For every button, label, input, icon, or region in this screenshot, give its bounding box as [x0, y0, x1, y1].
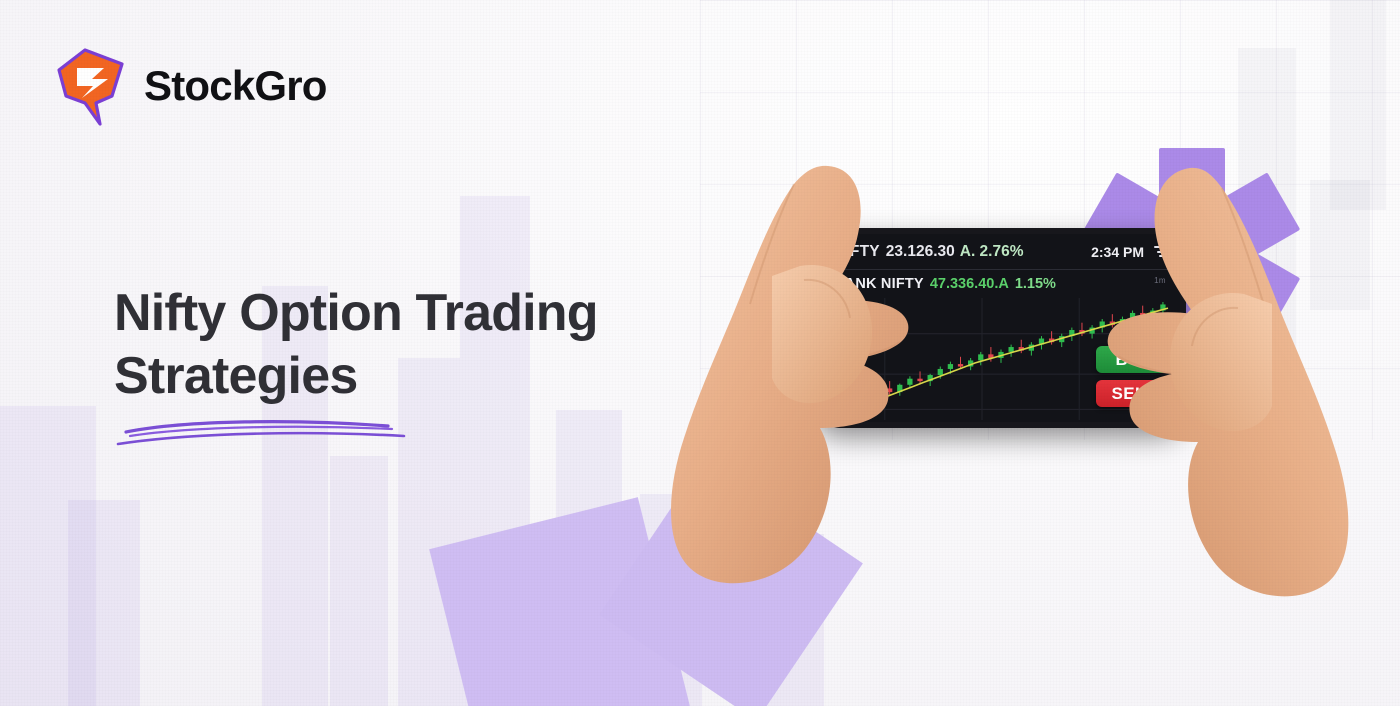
nifty-change: A. 2.76%	[960, 243, 1024, 261]
background-bar-silhouette	[68, 500, 140, 706]
headline-line-2: Strategies	[114, 347, 357, 405]
right-thumb	[1126, 290, 1276, 440]
background-bar-silhouette	[330, 456, 388, 706]
brand-logo[interactable]: StockGro	[52, 46, 327, 126]
stockgro-banner: StockGro Nifty Option Trading Strategies	[0, 0, 1400, 706]
stockgro-pin-bolt-logo-icon	[52, 46, 130, 126]
headline-underline-swoosh	[116, 414, 406, 453]
phone-in-hands-scene: NIFTY 23.126.30 A. 2.76% 2:34 PM BANK NI…	[560, 120, 1400, 706]
left-thumb	[770, 260, 920, 410]
background-bar-silhouette	[398, 358, 460, 706]
brand-name: StockGro	[144, 65, 327, 107]
headline-line-1: Nifty Option Trading	[114, 284, 598, 342]
page-title: Nifty Option Trading Strategies	[114, 282, 754, 409]
